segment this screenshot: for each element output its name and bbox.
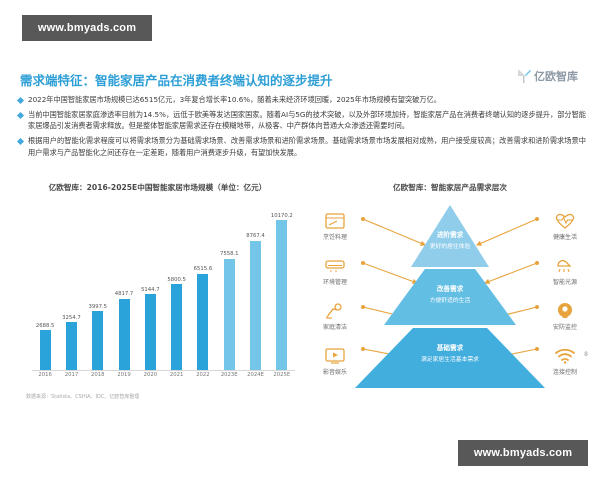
watermark-top: www.bmyads.com (22, 15, 152, 41)
slide-content: 需求端特征：智能家居产品在消费者终端认知的逐步提升 亿欧智库 2022年中国智能… (0, 60, 600, 420)
bar (250, 241, 261, 370)
x-axis-labels: 20162017201820192020202120222023E2024E20… (32, 372, 295, 378)
bar-column: 2688.5 (32, 205, 58, 370)
x-axis-line (32, 370, 295, 371)
scene-label: 烹饪料理 (323, 232, 347, 241)
bullet-item: 当前中国智能家居家庭渗透率目前为14.5%，远低于欧美等发达国家国家。随着AI与… (18, 109, 586, 131)
bar-chart: 2688.53254.73997.54817.75144.75800.56515… (24, 197, 295, 387)
tier-desc: 满足家居生活基本需求 (421, 354, 479, 363)
air-conditioner-icon (324, 256, 346, 275)
bar-column: 5800.5 (163, 205, 189, 370)
bullet-text: 根据用户的智能化需求程度可以将需求场景分为基础需求场景、改善需求场景和进阶需求场… (28, 135, 586, 157)
right-icon-column: 健康生活 智能光源 安防监控 (537, 211, 593, 391)
scene-item-health: 健康生活 (537, 211, 593, 256)
diamond-bullet-icon (17, 138, 24, 145)
left-icon-column: 烹饪料理 环境管理 家庭清洁 (307, 211, 363, 391)
bullet-text: 当前中国智能家居家庭渗透率目前为14.5%，远低于欧美等发达国家国家。随着AI与… (28, 109, 586, 131)
bar-value-label: 5144.7 (141, 287, 160, 293)
scene-item-security: 安防监控 (537, 301, 593, 346)
diamond-bullet-icon (17, 97, 24, 104)
x-axis-tick-label: 2016 (32, 372, 58, 378)
bar-column: 7558.1 (216, 205, 242, 370)
bullet-item: 2022年中国智能家居市场规模已达6515亿元，3年复合增长率10.6%，随着未… (18, 94, 586, 105)
cleaning-robot-icon (324, 301, 346, 320)
bar (40, 330, 51, 370)
y-shape-icon (518, 69, 531, 84)
chart-plot-area: 2688.53254.73997.54817.75144.75800.56515… (32, 205, 295, 370)
bar-column: 8767.4 (242, 205, 268, 370)
bar-value-label: 5800.5 (167, 277, 186, 283)
bar (276, 220, 287, 370)
x-axis-tick-label: 2021 (163, 372, 189, 378)
x-axis-tick-label: 2018 (85, 372, 111, 378)
bar-value-label: 6515.6 (194, 266, 213, 272)
bar-column: 10170.2 (269, 205, 295, 370)
scene-item-environment: 环境管理 (307, 256, 363, 301)
bar (66, 322, 77, 370)
bar-value-label: 2688.5 (36, 323, 55, 329)
x-axis-tick-label: 2023E (216, 372, 242, 378)
scene-item-cooking: 烹饪料理 (307, 211, 363, 256)
chart-title: 亿欧智库：2016-2025E中国智能家居市场规模（单位：亿元） (10, 182, 305, 193)
bar-column: 3997.5 (85, 205, 111, 370)
bar-column: 4817.7 (111, 205, 137, 370)
diamond-bullet-icon (17, 112, 24, 119)
lamp-icon (554, 256, 576, 275)
tier-desc: 更好的居住体验 (430, 241, 471, 250)
cooking-icon (324, 211, 346, 230)
scene-item-lighting: 智能光源 (537, 256, 593, 301)
logo-mark-icon (518, 69, 531, 84)
bar-value-label: 7558.1 (220, 251, 239, 257)
bar (92, 311, 103, 370)
pyramid-diagram: 进阶需求 更好的居住体验 改善需求 方便舒适的生活 基础需求 满足家居生活基本需… (305, 197, 595, 397)
scene-label: 智能光源 (553, 277, 577, 286)
scene-label: 连接控制 (553, 367, 577, 376)
heart-pulse-icon (554, 211, 576, 230)
bar-chart-panel: 亿欧智库：2016-2025E中国智能家居市场规模（单位：亿元） 2688.53… (10, 182, 305, 400)
x-axis-tick-label: 2025E (269, 372, 295, 378)
bullet-text: 2022年中国智能家居市场规模已达6515亿元，3年复合增长率10.6%，随着未… (28, 94, 441, 105)
bar (197, 274, 208, 370)
pyramid-title: 亿欧智库：智能家居产品需求层次 (305, 182, 595, 193)
watermark-bottom: www.bmyads.com (458, 440, 588, 466)
scene-label: 环境管理 (323, 277, 347, 286)
tier-name: 进阶需求 (437, 229, 463, 239)
scene-label: 影音娱乐 (323, 367, 347, 376)
bar (224, 259, 235, 370)
page-title: 需求端特征：智能家居产品在消费者终端认知的逐步提升 (20, 70, 586, 89)
camera-icon (554, 301, 576, 320)
chart-source-note: 数据来源：Statista、CSHIA、IDC、亿欧智库整理 (26, 393, 305, 400)
header: 需求端特征：智能家居产品在消费者终端认知的逐步提升 亿欧智库 (20, 70, 586, 90)
bullet-item: 根据用户的智能化需求程度可以将需求场景分为基础需求场景、改善需求场景和进阶需求场… (18, 135, 586, 157)
pyramid-panel: 亿欧智库：智能家居产品需求层次 (305, 182, 595, 397)
wifi-icon (554, 346, 576, 365)
x-axis-tick-label: 2020 (137, 372, 163, 378)
x-axis-tick-label: 2017 (58, 372, 84, 378)
scene-label: 安防监控 (553, 322, 577, 331)
bar (171, 284, 182, 370)
bar-value-label: 4817.7 (115, 291, 134, 297)
bar-value-label: 10170.2 (271, 213, 293, 219)
bullet-list: 2022年中国智能家居市场规模已达6515亿元，3年复合增长率10.6%，随着未… (18, 94, 586, 162)
pyramid-tier-bottom-label: 基础需求 满足家居生活基本需求 (421, 342, 479, 363)
bar-column: 5144.7 (137, 205, 163, 370)
bar (119, 299, 130, 370)
x-axis-tick-label: 2019 (111, 372, 137, 378)
page-number: 8 (584, 351, 588, 358)
tier-name: 改善需求 (437, 283, 463, 293)
scene-label: 健康生活 (553, 232, 577, 241)
bar-column: 6515.6 (190, 205, 216, 370)
scene-item-cleaning: 家庭清洁 (307, 301, 363, 346)
pyramid-tier-mid-label: 改善需求 方便舒适的生活 (430, 283, 471, 304)
tv-play-icon (324, 346, 346, 365)
bar (145, 294, 156, 370)
x-axis-tick-label: 2022 (190, 372, 216, 378)
bar-column: 3254.7 (58, 205, 84, 370)
bar-value-label: 3997.5 (88, 304, 107, 310)
logo-text: 亿欧智库 (534, 68, 578, 84)
bar-value-label: 3254.7 (62, 315, 81, 321)
brand-logo: 亿欧智库 (518, 68, 578, 84)
scene-label: 家庭清洁 (323, 322, 347, 331)
scene-item-entertainment: 影音娱乐 (307, 346, 363, 391)
tier-desc: 方便舒适的生活 (430, 295, 471, 304)
pyramid-shape: 进阶需求 更好的居住体验 改善需求 方便舒适的生活 基础需求 满足家居生活基本需… (355, 205, 545, 390)
pyramid-tier-top-label: 进阶需求 更好的居住体验 (430, 229, 471, 250)
tier-name: 基础需求 (437, 342, 463, 352)
bar-value-label: 8767.4 (246, 233, 265, 239)
x-axis-tick-label: 2024E (242, 372, 268, 378)
